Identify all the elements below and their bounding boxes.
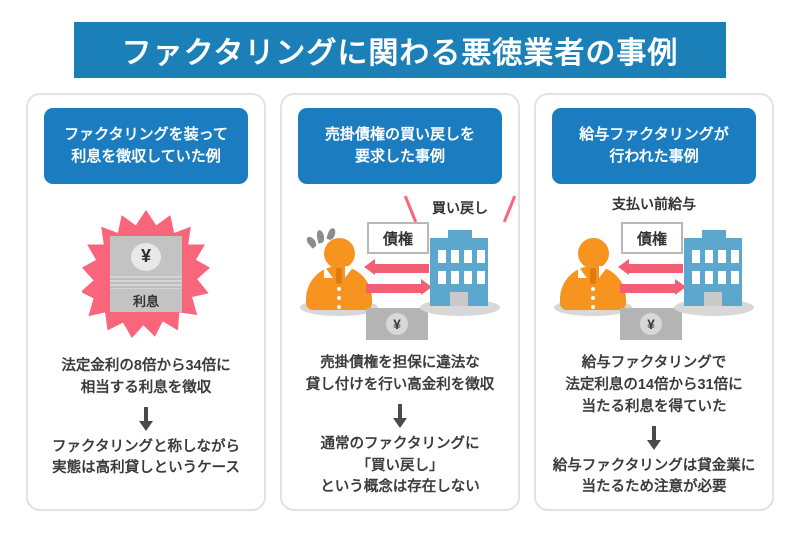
panel-1-body: 法定金利の8倍から34倍に 相当する利息を徴収 ファクタリングと称しながら 実態…: [28, 352, 264, 509]
person-tie: [590, 268, 596, 284]
panel-1-text-top: 法定金利の8倍から34倍に 相当する利息を徴収: [61, 356, 230, 400]
person-collar-left: [578, 266, 587, 278]
building-window: [731, 250, 739, 263]
building-door: [450, 292, 468, 306]
arrow-tip: [139, 421, 153, 431]
person-collar-right: [345, 266, 354, 278]
buyback-annotation: 買い戻し: [408, 194, 512, 224]
panel-2-text-top: 売掛債権を担保に違法な 貸し付けを行い高金利を徴収: [306, 353, 495, 397]
panel-3-text-top: 給与ファクタリングで 法定利息の14倍から31倍に 当たる利息を得ていた: [565, 353, 742, 418]
person-head: [324, 238, 355, 269]
panel-2-text-bottom: 通常のファクタリングに 「買い戻し」 という概念は存在しない: [320, 434, 480, 499]
panel-2-illustration: 買い戻し 債権: [282, 192, 518, 349]
panel-1-text-bottom: ファクタリングと称しながら 実態は高利貸しというケース: [52, 437, 240, 481]
panel-3-illustration: 支払い前給与 債権: [536, 192, 772, 349]
panel-3-header: 給与ファクタリングが 行われた事例: [552, 108, 756, 184]
person-button: [337, 296, 341, 300]
sweat-mark-icon: [316, 229, 326, 243]
page-title: ファクタリングに関わる悪徳業者の事例: [122, 28, 679, 72]
slash-left-icon: [404, 195, 417, 222]
flow-scene-2: 買い戻し 債権: [282, 192, 518, 349]
panels-row: ファクタリングを装って 利息を徴収していた例 ¥ 利息 法定金利の8倍から34倍…: [26, 93, 774, 511]
yen-coin-icon: ¥: [386, 313, 408, 335]
building-window: [705, 250, 713, 263]
building-window: [451, 271, 459, 284]
panel-1-header: ファクタリングを装って 利息を徴収していた例: [44, 108, 248, 184]
building-window: [464, 250, 472, 263]
panel-salary-factoring: 給与ファクタリングが 行われた事例 支払い前給与 債権: [534, 93, 774, 511]
panel-1-illustration: ¥ 利息: [28, 192, 264, 352]
claim-label-text: 債権: [637, 228, 667, 249]
building-window: [464, 271, 472, 284]
person-head: [578, 238, 609, 269]
building-window: [438, 250, 446, 263]
starburst-graphic: ¥ 利息: [82, 210, 210, 338]
claim-label-text: 債権: [383, 228, 413, 249]
panel-2-header: 売掛債権の買い戻しを 要求した事例: [298, 108, 502, 184]
page-title-bar: ファクタリングに関わる悪徳業者の事例: [74, 22, 726, 78]
panel-3-body: 給与ファクタリングで 法定利息の14倍から31倍に 当たる利息を得ていた 給与フ…: [536, 349, 772, 509]
arrow-right-icon: [620, 284, 676, 293]
arrow-tip: [393, 418, 407, 428]
pre-payment-salary-caption: 支払い前給与: [536, 194, 772, 214]
interest-document-icon: ¥ 利息: [110, 236, 182, 312]
arrow-tip: [647, 440, 661, 450]
person-button: [591, 305, 595, 309]
building-window: [451, 250, 459, 263]
slash-right-icon: [503, 195, 516, 222]
person-button: [591, 296, 595, 300]
person-button: [591, 287, 595, 291]
yen-coin-icon: ¥: [131, 243, 161, 271]
building-window: [718, 250, 726, 263]
sweat-mark-icon: [305, 235, 318, 249]
buyback-label: 買い戻し: [432, 198, 488, 218]
person-button: [337, 287, 341, 291]
person-collar-left: [324, 266, 333, 278]
down-arrow-icon: [140, 407, 152, 431]
building-window: [731, 271, 739, 284]
building-window: [438, 271, 446, 284]
yen-coin-icon: ¥: [640, 313, 662, 335]
panel-2-body: 売掛債権を担保に違法な 貸し付けを行い高金利を徴収 通常のファクタリングに 「買…: [282, 349, 518, 509]
panel-1-header-text: ファクタリングを装って 利息を徴収していた例: [64, 124, 228, 168]
building-window: [692, 250, 700, 263]
down-arrow-icon: [394, 404, 406, 428]
company-building-icon: [672, 226, 756, 316]
panel-2-header-text: 売掛債権の買い戻しを 要求した事例: [325, 124, 475, 168]
building-window: [692, 271, 700, 284]
arrow-right-icon: [366, 284, 422, 293]
arrow-left-head: [364, 259, 375, 275]
panel-buyback-demand: 売掛債権の買い戻しを 要求した事例 買い戻し: [280, 93, 520, 511]
building-window: [718, 271, 726, 284]
down-arrow-icon: [648, 426, 660, 450]
flow-scene-3: 支払い前給与 債権: [536, 192, 772, 349]
panel-3-text-bottom: 給与ファクタリングは貸金業に 当たるため注意が必要: [553, 456, 755, 500]
person-collar-right: [599, 266, 608, 278]
building-door: [704, 292, 722, 306]
arrow-left-head: [618, 259, 629, 275]
document-label: 利息: [133, 291, 159, 310]
document-lines-upper: [110, 276, 182, 289]
person-tie: [336, 268, 342, 284]
person-button: [337, 305, 341, 309]
building-window: [477, 271, 485, 284]
company-building-icon: [418, 226, 502, 316]
building-window: [477, 250, 485, 263]
panel-interest-collection: ファクタリングを装って 利息を徴収していた例 ¥ 利息 法定金利の8倍から34倍…: [26, 93, 266, 511]
panel-3-header-text: 給与ファクタリングが 行われた事例: [579, 124, 728, 168]
building-window: [705, 271, 713, 284]
